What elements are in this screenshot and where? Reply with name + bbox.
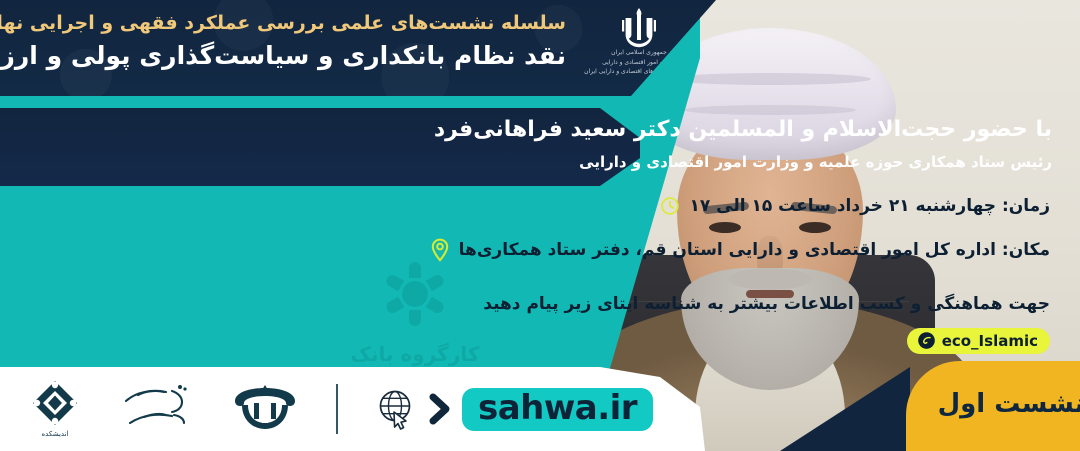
speaker-name: با حضور حجت‌الاسلام و المسلمین دکتر سعید…: [434, 117, 1052, 142]
website-block[interactable]: sahwa.ir: [374, 386, 653, 432]
globe-cursor-icon: [374, 386, 420, 432]
page-title: نقد نظام بانکداری و سیاست‌گذاری پولی و ا…: [96, 40, 566, 73]
event-time-text: زمان: چهارشنبه ۲۱ خرداد ساعت ۱۵ الی ۱۷: [689, 196, 1050, 216]
eye-left: [709, 222, 741, 233]
header-teal-separator: [0, 96, 640, 108]
eye-right: [799, 222, 831, 233]
eitaa-handle-text: eco_Islamic: [942, 332, 1038, 350]
footer-divider: [336, 384, 338, 434]
series-title: سلسله نشست‌های علمی بررسی عملکرد فقهی و …: [96, 12, 566, 36]
andishkadeh-nemad-logo-icon: اندیشکده: [18, 378, 92, 440]
location-pin-icon: [430, 238, 450, 262]
moustache: [728, 268, 812, 290]
howzeh-elmiyeh-logo-icon: [230, 379, 300, 439]
bank-workgroup-icon: [367, 252, 463, 336]
watermark-logo: کارگروه بانک و سیاستگذاری پولی و ارزی: [325, 252, 505, 376]
footer-logo-group: اندیشکده: [18, 367, 659, 451]
event-cta-text: جهت هماهنگی و کسب اطلاعات بیشتر به شناسه…: [483, 294, 1050, 314]
feqh-institute-logo-icon: [118, 379, 204, 439]
event-cta-row: جهت هماهنگی و کسب اطلاعات بیشتر به شناسه…: [483, 294, 1050, 314]
clock-icon: [660, 196, 680, 216]
watermark-title: کارگروه بانک: [325, 342, 505, 366]
speaker-role: رئیس ستاد همکاری حوزه علمیه و وزارت امور…: [579, 153, 1052, 171]
session-badge: نشست اول: [906, 361, 1080, 451]
feqh-olum-eslami-institute-logo: [118, 379, 204, 439]
event-place-row: مکان: اداره کل امور اقتصادی و دارایی است…: [430, 238, 1050, 262]
event-poster: کارگروه بانک و سیاستگذاری پولی و ارزی جم…: [0, 0, 1080, 451]
andishkadeh-nemad-logo: اندیشکده: [18, 378, 92, 440]
event-place-text: مکان: اداره کل امور اقتصادی و دارایی است…: [459, 240, 1050, 260]
eitaa-icon: [917, 331, 936, 350]
chevron-right-icon: [426, 392, 456, 426]
poster-header: جمهوری اسلامی ایران وزارت امور اقتصادی و…: [0, 0, 716, 96]
iran-national-emblem-icon: [616, 6, 662, 48]
event-time-row: زمان: چهارشنبه ۲۱ خرداد ساعت ۱۵ الی ۱۷: [660, 196, 1050, 216]
website-url[interactable]: sahwa.ir: [462, 388, 653, 431]
svg-text:اندیشکده: اندیشکده: [42, 430, 69, 438]
eitaa-handle-badge[interactable]: eco_Islamic: [907, 328, 1050, 354]
howzeh-elmiyeh-logo: [230, 379, 300, 439]
header-titles: سلسله نشست‌های علمی بررسی عملکرد فقهی و …: [96, 12, 566, 72]
session-badge-label: نشست اول: [938, 389, 1080, 419]
